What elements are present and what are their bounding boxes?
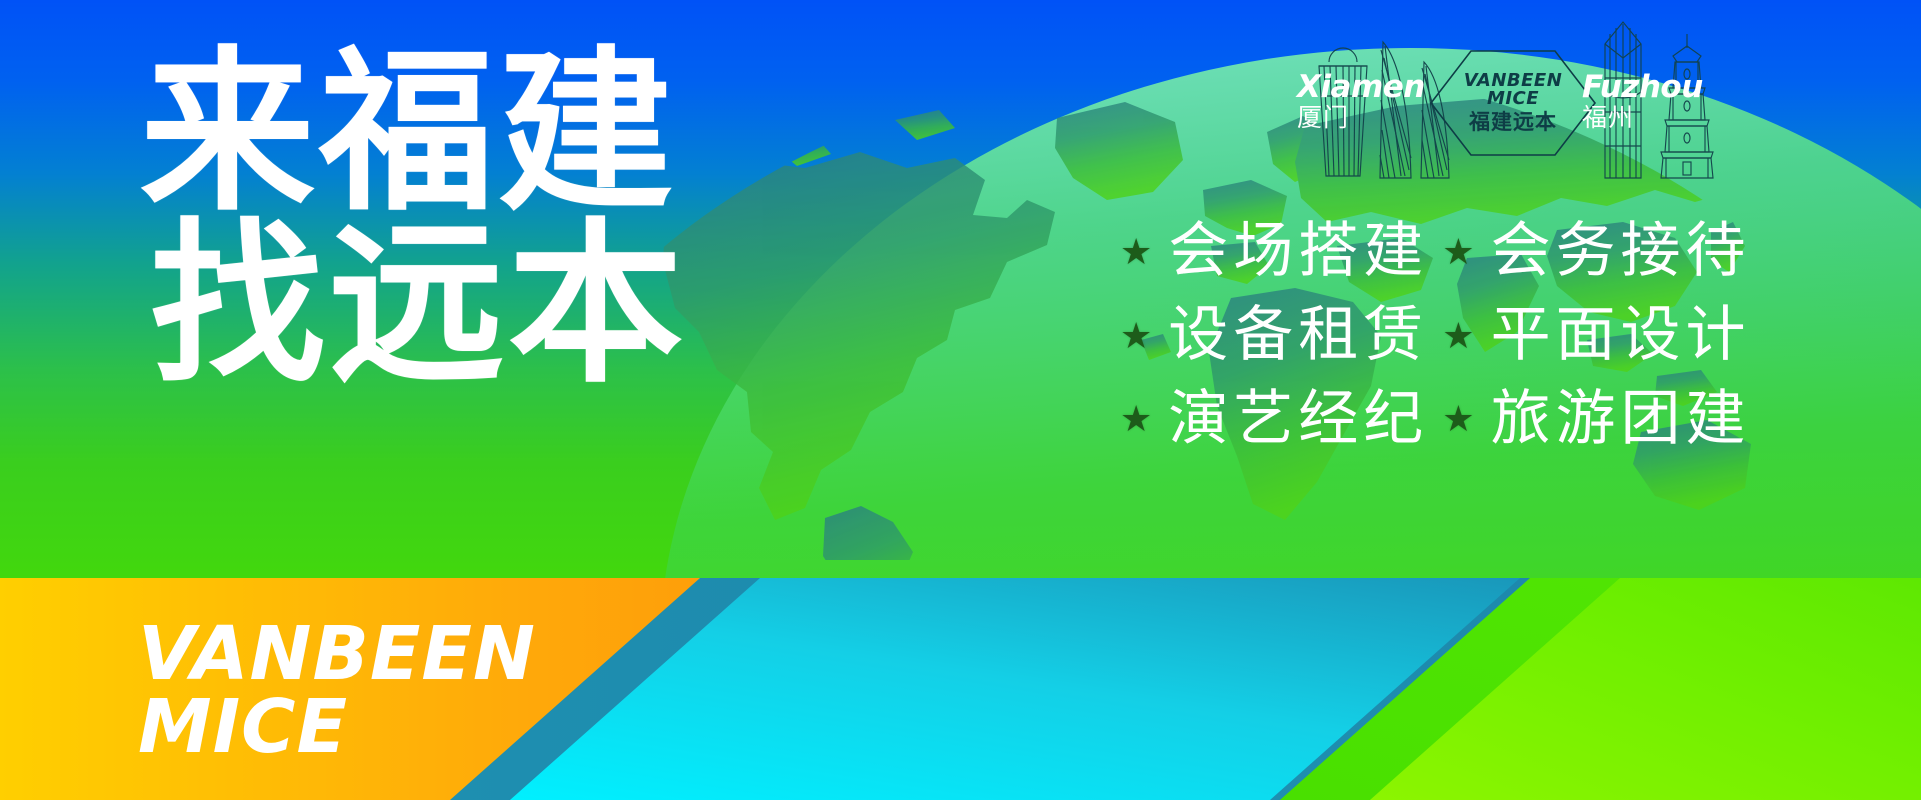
star-icon: ★ (1442, 234, 1474, 270)
service-list: ★ 会场搭建 ★ 会务接待 ★ 设备租赁 ★ 平面设计 ★ 演艺经纪 ★ 旅游团 (1120, 212, 1751, 459)
hex-brand-line-2: MICE (1487, 90, 1539, 109)
headline-line-2: 找远本 (150, 220, 687, 392)
star-icon: ★ (1120, 401, 1152, 437)
promo-banner: 来福建 找远本 ★ 会场搭建 ★ 会务接待 ★ 设备租赁 ★ 平面设计 ★ (0, 0, 1921, 800)
service-label: 旅游团建 (1491, 380, 1751, 460)
footer-brand-line-1: VANBEEN (138, 618, 536, 691)
service-item: ★ 会场搭建 (1120, 212, 1428, 292)
star-icon: ★ (1442, 401, 1474, 437)
headline: 来福建 找远本 (140, 48, 687, 391)
city-name-cn: 厦门 (1297, 105, 1425, 131)
service-label: 会务接待 (1491, 212, 1751, 292)
service-label: 演艺经纪 (1168, 380, 1428, 460)
hex-brand-cn: 福建远本 (1469, 111, 1557, 134)
city-label-xiamen: Xiamen 厦门 (1297, 72, 1425, 130)
service-label: 会场搭建 (1168, 212, 1428, 292)
footer-brand-line-2: MICE (138, 691, 536, 764)
star-icon: ★ (1120, 234, 1152, 270)
star-icon: ★ (1442, 318, 1474, 354)
city-badge-cluster: VANBEEN MICE 福建远本 Xiamen 厦门 Fuzhou 福州 (1305, 0, 1765, 190)
hexagon-badge: VANBEEN MICE 福建远本 (1427, 47, 1599, 159)
service-item: ★ 旅游团建 (1442, 380, 1750, 460)
service-item: ★ 设备租赁 (1120, 296, 1428, 376)
footer-bar: VANBEEN MICE (0, 578, 1921, 800)
city-name-cn: 福州 (1582, 105, 1703, 131)
star-icon: ★ (1120, 318, 1152, 354)
headline-line-1: 来福建 (140, 48, 687, 220)
service-label: 设备租赁 (1168, 296, 1428, 376)
service-item: ★ 会务接待 (1442, 212, 1750, 292)
service-item: ★ 演艺经纪 (1120, 380, 1428, 460)
service-item: ★ 平面设计 (1442, 296, 1750, 376)
hero-gradient-background: 来福建 找远本 ★ 会场搭建 ★ 会务接待 ★ 设备租赁 ★ 平面设计 ★ (0, 0, 1921, 578)
footer-brand-wordmark: VANBEEN MICE (138, 618, 536, 763)
service-label: 平面设计 (1491, 296, 1751, 376)
city-name-en: Xiamen (1297, 72, 1425, 104)
city-name-en: Fuzhou (1582, 72, 1703, 104)
hexagon-badge-text: VANBEEN MICE 福建远本 (1427, 47, 1599, 159)
city-label-fuzhou: Fuzhou 福州 (1582, 72, 1703, 130)
